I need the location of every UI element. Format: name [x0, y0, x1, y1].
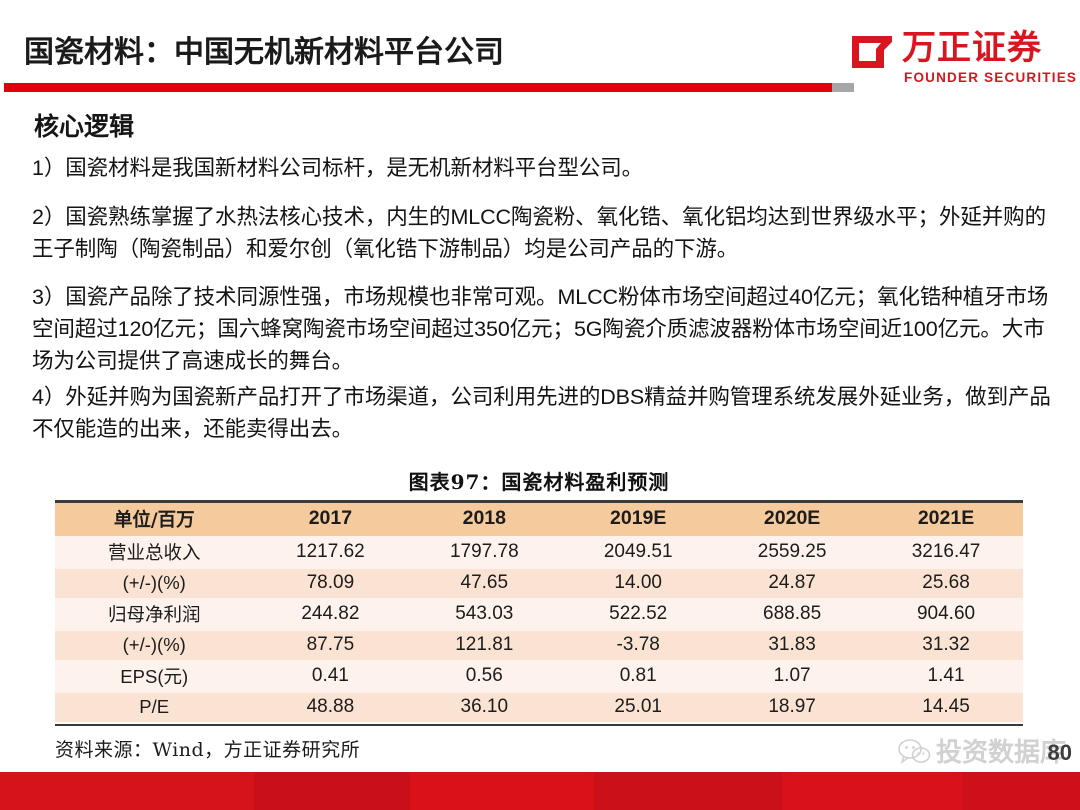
- cell-value: 1.41: [869, 660, 1023, 693]
- founder-securities-logo: 万正证券 FOUNDER SECURITIES: [850, 30, 1068, 88]
- paragraph-3: 3）国瓷产品除了技术同源性强，市场规模也非常可观。MLCC粉体市场空间超过40亿…: [32, 281, 1060, 377]
- paragraph-1: 1）国瓷材料是我国新材料公司标杆，是无机新材料平台型公司。: [32, 152, 1060, 184]
- cell-value: 0.41: [253, 660, 407, 693]
- cell-value: 0.81: [561, 660, 715, 693]
- row-label: EPS(元): [55, 660, 253, 693]
- footer-bar-segment: [962, 772, 1080, 810]
- col-header-2017: 2017: [253, 503, 407, 536]
- exhibit-block: 图表97：国瓷材料盈利预测 单位/百万 2017 2018 2019E 2020…: [55, 466, 1023, 762]
- cell-value: 31.83: [715, 631, 869, 660]
- title-underline-rule: [4, 83, 832, 92]
- page-number: 80: [1048, 740, 1072, 766]
- page-title: 国瓷材料：中国无机新材料平台公司: [24, 27, 504, 71]
- cell-value: 25.68: [869, 569, 1023, 598]
- footer-bar-segment: [594, 772, 782, 810]
- cell-value: 121.81: [407, 631, 561, 660]
- col-header-2019e: 2019E: [561, 503, 715, 536]
- row-label: 营业总收入: [55, 536, 253, 569]
- cell-value: 688.85: [715, 598, 869, 631]
- profit-forecast-table: 单位/百万 2017 2018 2019E 2020E 2021E 营业总收入 …: [55, 503, 1023, 722]
- slide-header: 国瓷材料：中国无机新材料平台公司 万正证券 FOUNDER SECURITIES: [0, 0, 1080, 96]
- row-label: (+/-)(%): [55, 631, 253, 660]
- cell-value: 1217.62: [253, 536, 407, 569]
- cell-value: 2049.51: [561, 536, 715, 569]
- cell-value: 48.88: [253, 693, 407, 722]
- footer-bar: [0, 772, 1080, 810]
- table-row: P/E 48.88 36.10 25.01 18.97 14.45: [55, 693, 1023, 722]
- col-header-2021e: 2021E: [869, 503, 1023, 536]
- cell-value: 47.65: [407, 569, 561, 598]
- cell-value: 87.75: [253, 631, 407, 660]
- row-label: 归母净利润: [55, 598, 253, 631]
- paragraph-2: 2）国瓷熟练掌握了水热法核心技术，内生的MLCC陶瓷粉、氧化锆、氧化铝均达到世界…: [32, 201, 1060, 265]
- cell-value: 36.10: [407, 693, 561, 722]
- cell-value: 14.45: [869, 693, 1023, 722]
- exhibit-source: 资料来源：Wind，方正证券研究所: [55, 726, 1023, 762]
- footer-bar-segment: [782, 772, 962, 810]
- footer-bar-segment: [254, 772, 410, 810]
- table-row: 归母净利润 244.82 543.03 522.52 688.85 904.60: [55, 598, 1023, 631]
- exhibit-title: 图表97：国瓷材料盈利预测: [55, 466, 1023, 500]
- logo-english-name: FOUNDER SECURITIES: [904, 70, 1077, 85]
- cell-value: 3216.47: [869, 536, 1023, 569]
- cell-value: 1797.78: [407, 536, 561, 569]
- cell-value: 18.97: [715, 693, 869, 722]
- footer-bar-segment: [410, 772, 594, 810]
- section-heading: 核心逻辑: [34, 107, 134, 143]
- cell-value: 904.60: [869, 598, 1023, 631]
- cell-value: 25.01: [561, 693, 715, 722]
- cell-value: 0.56: [407, 660, 561, 693]
- cell-value: 522.52: [561, 598, 715, 631]
- col-header-unit: 单位/百万: [55, 503, 253, 536]
- footer-bar-segment: [0, 772, 254, 810]
- cell-value: 24.87: [715, 569, 869, 598]
- cell-value: 14.00: [561, 569, 715, 598]
- cell-value: 78.09: [253, 569, 407, 598]
- row-label: P/E: [55, 693, 253, 722]
- table-row: (+/-)(%) 78.09 47.65 14.00 24.87 25.68: [55, 569, 1023, 598]
- col-header-2018: 2018: [407, 503, 561, 536]
- table-header-row: 单位/百万 2017 2018 2019E 2020E 2021E: [55, 503, 1023, 536]
- table-body: 营业总收入 1217.62 1797.78 2049.51 2559.25 32…: [55, 536, 1023, 722]
- table-row: (+/-)(%) 87.75 121.81 -3.78 31.83 31.32: [55, 631, 1023, 660]
- cell-value: 1.07: [715, 660, 869, 693]
- cell-value: 2559.25: [715, 536, 869, 569]
- founder-logo-mark-icon: [850, 32, 894, 72]
- cell-value: 31.32: [869, 631, 1023, 660]
- logo-chinese-name: 万正证券: [902, 28, 1042, 68]
- col-header-2020e: 2020E: [715, 503, 869, 536]
- cell-value: -3.78: [561, 631, 715, 660]
- table-row: 营业总收入 1217.62 1797.78 2049.51 2559.25 32…: [55, 536, 1023, 569]
- slide: 国瓷材料：中国无机新材料平台公司 万正证券 FOUNDER SECURITIES…: [0, 0, 1080, 810]
- row-label: (+/-)(%): [55, 569, 253, 598]
- cell-value: 244.82: [253, 598, 407, 631]
- table-row: EPS(元) 0.41 0.56 0.81 1.07 1.41: [55, 660, 1023, 693]
- paragraph-4: 4）外延并购为国瓷新产品打开了市场渠道，公司利用先进的DBS精益并购管理系统发展…: [32, 381, 1060, 445]
- table-header: 单位/百万 2017 2018 2019E 2020E 2021E: [55, 503, 1023, 536]
- cell-value: 543.03: [407, 598, 561, 631]
